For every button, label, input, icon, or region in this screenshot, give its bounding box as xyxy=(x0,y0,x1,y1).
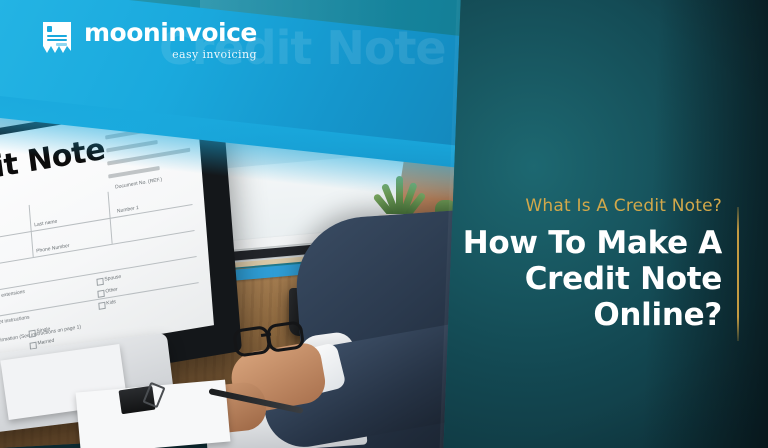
gold-vertical-rule xyxy=(737,207,739,341)
headline-line-2: Credit Note xyxy=(525,261,722,297)
banner-image: Credit Note Personal Details Status Inco… xyxy=(0,0,768,448)
invoice-document-icon xyxy=(40,21,74,59)
headline-block: What Is A Credit Note? How To Make A Cre… xyxy=(422,196,722,334)
headline-kicker: What Is A Credit Note? xyxy=(422,196,722,216)
brand-logo[interactable]: mooninvoice easy invoicing xyxy=(40,20,257,60)
brand-tagline: easy invoicing xyxy=(172,49,257,60)
brand-wordmark: mooninvoice easy invoicing xyxy=(84,20,257,60)
brand-name: mooninvoice xyxy=(84,20,257,45)
page-title: How To Make A Credit Note Online? xyxy=(422,226,722,334)
headline-line-1: How To Make A xyxy=(463,225,722,261)
headline-line-3: Online? xyxy=(593,297,722,333)
